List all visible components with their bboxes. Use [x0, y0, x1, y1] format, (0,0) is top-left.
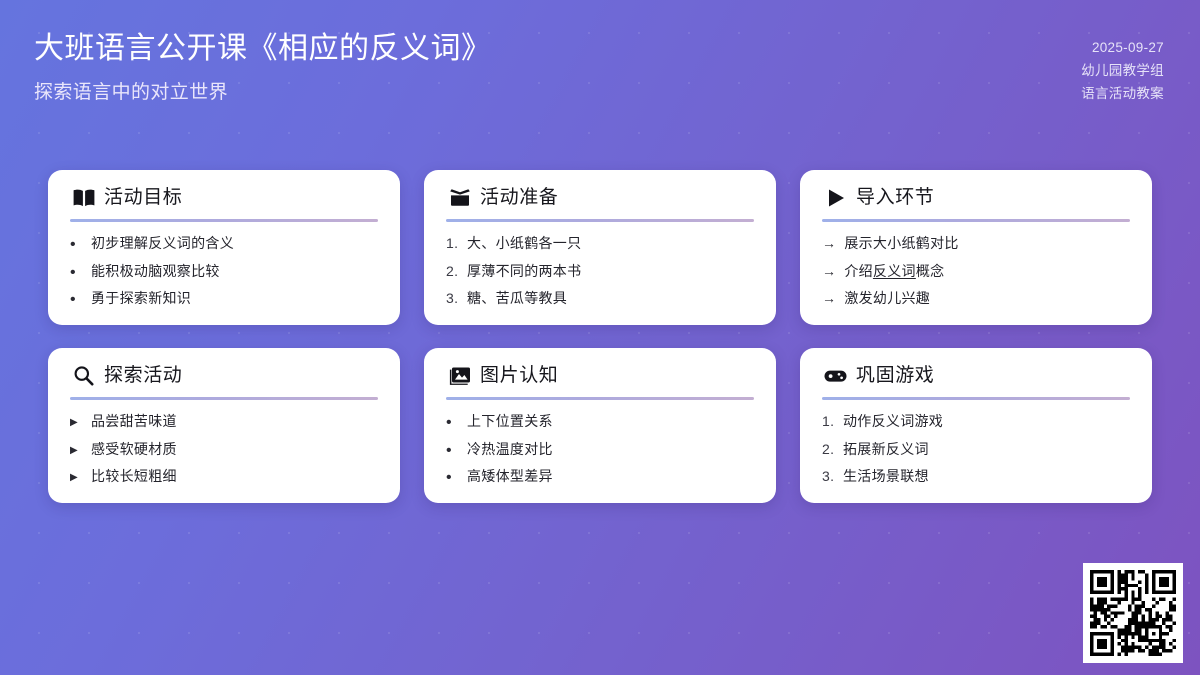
qr-code[interactable] — [1083, 563, 1183, 663]
list-item-text: 展示大小纸鹤对比 — [844, 235, 958, 253]
meta-date: 2025-09-27 — [1081, 36, 1164, 59]
page-title: 大班语言公开课《相应的反义词》 — [34, 30, 492, 68]
list-item: •能积极动脑观察比较 — [70, 263, 378, 281]
page-subtitle: 探索语言中的对立世界 — [34, 77, 492, 104]
list-item: •高矮体型差异 — [446, 468, 754, 486]
list-marker: ▶ — [70, 417, 83, 430]
list-item: →介绍反义词概念 — [822, 263, 1130, 281]
card-header: 活动目标 — [70, 186, 378, 209]
list-marker: 1. — [446, 235, 459, 253]
card-1: 活动目标•初步理解反义词的含义•能积极动脑观察比较•勇于探索新知识 — [48, 170, 400, 325]
list-item-text: 激发幼儿兴趣 — [844, 290, 930, 308]
card-2: 活动准备1.大、小纸鹤各一只2.厚薄不同的两本书3.糖、苦瓜等教具 — [424, 170, 776, 325]
list-marker: 1. — [822, 413, 835, 431]
card-4: 探索活动▶品尝甜苦味道▶感受软硬材质▶比较长短粗细 — [48, 348, 400, 503]
card-divider — [822, 397, 1130, 400]
play-triangle-icon — [824, 186, 847, 209]
card-title: 巩固游戏 — [856, 366, 934, 385]
list-item: •冷热温度对比 — [446, 441, 754, 459]
list-item: ▶感受软硬材质 — [70, 441, 378, 459]
card-item-list: 1.动作反义词游戏2.拓展新反义词3.生活场景联想 — [822, 413, 1130, 486]
card-divider — [70, 397, 378, 400]
list-marker: • — [446, 470, 459, 486]
list-item-text: 勇于探索新知识 — [91, 290, 191, 308]
list-item-text: 感受软硬材质 — [91, 441, 177, 459]
card-title: 活动准备 — [480, 188, 558, 207]
card-divider — [822, 219, 1130, 222]
card-5: 图片认知•上下位置关系•冷热温度对比•高矮体型差异 — [424, 348, 776, 503]
list-marker: ▶ — [70, 472, 83, 485]
list-marker: 2. — [822, 441, 835, 459]
list-item: •勇于探索新知识 — [70, 290, 378, 308]
item-text-lead: 介绍 — [844, 263, 873, 279]
list-item: •初步理解反义词的含义 — [70, 235, 378, 253]
list-marker: • — [70, 237, 83, 253]
card-divider — [446, 397, 754, 400]
list-item-text: 上下位置关系 — [467, 413, 553, 431]
list-marker: → — [822, 290, 836, 308]
card-3: 导入环节→展示大小纸鹤对比→介绍反义词概念→激发幼儿兴趣 — [800, 170, 1152, 325]
list-item-text: 拓展新反义词 — [843, 441, 929, 459]
slide-header: 大班语言公开课《相应的反义词》 探索语言中的对立世界 2025-09-27 幼儿… — [0, 0, 1200, 140]
list-item-text: 糖、苦瓜等教具 — [467, 290, 567, 308]
card-header: 巩固游戏 — [822, 364, 1130, 387]
card-title: 导入环节 — [856, 188, 934, 207]
card-6: 巩固游戏1.动作反义词游戏2.拓展新反义词3.生活场景联想 — [800, 348, 1152, 503]
list-item-text: 品尝甜苦味道 — [91, 413, 177, 431]
card-item-list: •初步理解反义词的含义•能积极动脑观察比较•勇于探索新知识 — [70, 235, 378, 308]
card-divider — [446, 219, 754, 222]
list-marker: 2. — [446, 263, 459, 281]
list-marker: • — [446, 415, 459, 431]
list-marker: • — [70, 265, 83, 281]
list-item: 1.动作反义词游戏 — [822, 413, 1130, 431]
card-item-list: →展示大小纸鹤对比→介绍反义词概念→激发幼儿兴趣 — [822, 235, 1130, 308]
list-item: •上下位置关系 — [446, 413, 754, 431]
list-marker: ▶ — [70, 445, 83, 458]
card-item-list: ▶品尝甜苦味道▶感受软硬材质▶比较长短粗细 — [70, 413, 378, 486]
item-text-tail: 概念 — [916, 263, 945, 279]
list-marker: 3. — [446, 290, 459, 308]
list-marker: 3. — [822, 468, 835, 486]
list-item: ▶比较长短粗细 — [70, 468, 378, 486]
open-book-icon — [72, 186, 95, 209]
list-item-text: 生活场景联想 — [843, 468, 929, 486]
list-item: 2.拓展新反义词 — [822, 441, 1130, 459]
list-item-text: 厚薄不同的两本书 — [467, 263, 581, 281]
card-grid: 活动目标•初步理解反义词的含义•能积极动脑观察比较•勇于探索新知识活动准备1.大… — [48, 170, 1152, 503]
list-item-text: 初步理解反义词的含义 — [91, 235, 234, 253]
card-header: 图片认知 — [446, 364, 754, 387]
card-title: 探索活动 — [104, 366, 182, 385]
list-item-text: 冷热温度对比 — [467, 441, 553, 459]
list-item: →激发幼儿兴趣 — [822, 290, 1130, 308]
card-header: 探索活动 — [70, 364, 378, 387]
list-item-text: 动作反义词游戏 — [843, 413, 943, 431]
item-text-emphasis: 反义词 — [873, 263, 916, 279]
list-marker: → — [822, 235, 836, 253]
magnifier-icon — [72, 364, 95, 387]
list-item-text: 介绍反义词概念 — [844, 263, 944, 281]
list-item: 3.糖、苦瓜等教具 — [446, 290, 754, 308]
card-divider — [70, 219, 378, 222]
list-marker: • — [70, 292, 83, 308]
list-item-text: 大、小纸鹤各一只 — [467, 235, 581, 253]
card-item-list: •上下位置关系•冷热温度对比•高矮体型差异 — [446, 413, 754, 486]
list-item-text: 高矮体型差异 — [467, 468, 553, 486]
meta-doc-type: 语言活动教案 — [1081, 82, 1164, 105]
list-item: →展示大小纸鹤对比 — [822, 235, 1130, 253]
list-item: 1.大、小纸鹤各一只 — [446, 235, 754, 253]
list-item-text: 能积极动脑观察比较 — [91, 263, 220, 281]
card-header: 导入环节 — [822, 186, 1130, 209]
meta-organization: 幼儿园教学组 — [1081, 59, 1164, 82]
list-item: 2.厚薄不同的两本书 — [446, 263, 754, 281]
list-marker: → — [822, 263, 836, 281]
card-item-list: 1.大、小纸鹤各一只2.厚薄不同的两本书3.糖、苦瓜等教具 — [446, 235, 754, 308]
card-title: 图片认知 — [480, 366, 558, 385]
card-header: 活动准备 — [446, 186, 754, 209]
list-item: 3.生活场景联想 — [822, 468, 1130, 486]
card-title: 活动目标 — [104, 188, 182, 207]
list-item: ▶品尝甜苦味道 — [70, 413, 378, 431]
list-item-text: 比较长短粗细 — [91, 468, 177, 486]
list-marker: • — [446, 443, 459, 459]
picture-icon — [448, 364, 471, 387]
header-meta: 2025-09-27 幼儿园教学组 语言活动教案 — [1081, 26, 1164, 106]
qr-code-image — [1090, 570, 1176, 656]
gamepad-icon — [824, 364, 847, 387]
title-block: 大班语言公开课《相应的反义词》 探索语言中的对立世界 — [34, 26, 492, 104]
open-box-icon — [448, 186, 471, 209]
